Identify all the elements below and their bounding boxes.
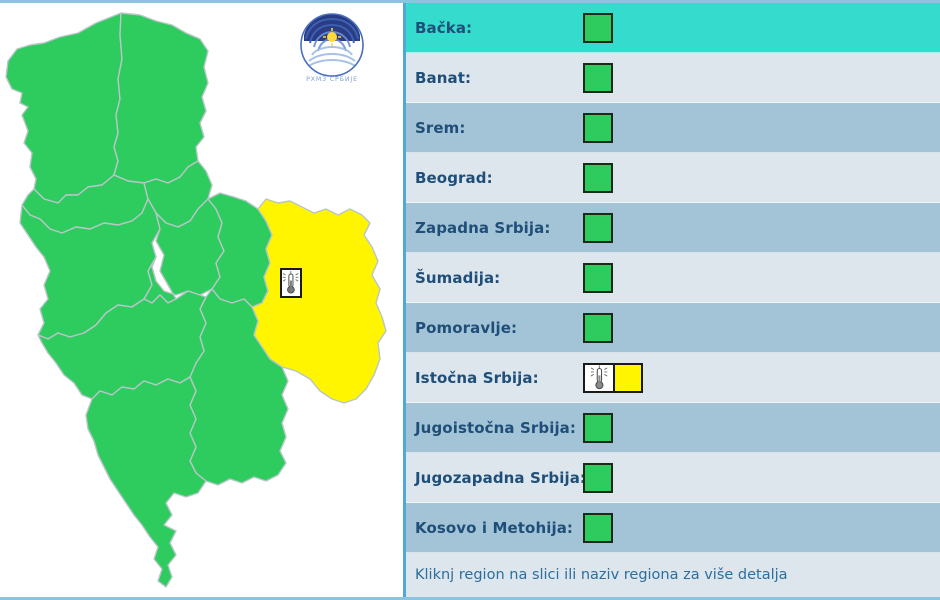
warning-level-swatch-green — [583, 213, 613, 243]
region-row[interactable]: Pomoravlje: — [406, 303, 940, 353]
warning-badge-group — [583, 463, 613, 493]
warning-badge-group — [583, 163, 613, 193]
warning-level-swatch-green — [583, 113, 613, 143]
warning-level-swatch-green — [583, 163, 613, 193]
region-label[interactable]: Srem: — [415, 119, 583, 137]
map-region-banat[interactable] — [114, 13, 208, 183]
map-region-kosovo-i-metohija[interactable] — [86, 377, 206, 587]
map-panel[interactable]: РХМЗ СРБИЈЕ — [0, 3, 406, 597]
warning-badge-group — [583, 13, 613, 43]
region-row[interactable]: Bačka: — [406, 3, 940, 53]
logo-caption: РХМЗ СРБИЈЕ — [306, 76, 358, 83]
warning-level-swatch-green — [583, 413, 613, 443]
warning-badge-group — [583, 263, 613, 293]
region-label[interactable]: Šumadija: — [415, 269, 583, 287]
warning-level-swatch-green — [583, 13, 613, 43]
warning-badge-group — [583, 213, 613, 243]
region-list-panel: Bačka:Banat:Srem:Beograd:Zapadna Srbija:… — [406, 3, 940, 597]
region-label[interactable]: Kosovo i Metohija: — [415, 519, 583, 537]
region-row[interactable]: Zapadna Srbija: — [406, 203, 940, 253]
region-row[interactable]: Srem: — [406, 103, 940, 153]
warning-level-swatch-green — [583, 63, 613, 93]
thermometer-heat-icon — [583, 363, 613, 393]
warning-level-swatch-green — [583, 263, 613, 293]
serbia-region-map[interactable] — [0, 3, 403, 597]
region-row[interactable]: Jugozapadna Srbija: — [406, 453, 940, 503]
region-row[interactable]: Kosovo i Metohija: — [406, 503, 940, 553]
warning-badge-group — [583, 363, 643, 393]
meteoalarm-page: РХМЗ СРБИЈЕ Bačka:Banat:Srem: — [0, 0, 940, 600]
region-row[interactable]: Šumadija: — [406, 253, 940, 303]
warning-level-swatch-green — [583, 463, 613, 493]
map-thermometer-heat-icon[interactable] — [280, 268, 302, 298]
warning-badge-group — [583, 113, 613, 143]
region-row[interactable]: Jugoistočna Srbija: — [406, 403, 940, 453]
map-region-backa[interactable] — [6, 13, 122, 203]
region-label[interactable]: Istočna Srbija: — [415, 369, 583, 387]
region-row[interactable]: Istočna Srbija: — [406, 353, 940, 403]
rhmz-srbije-logo: РХМЗ СРБИЈЕ — [296, 9, 368, 91]
warning-level-swatch-green — [583, 513, 613, 543]
region-row[interactable]: Banat: — [406, 53, 940, 103]
region-label[interactable]: Zapadna Srbija: — [415, 219, 583, 237]
region-label[interactable]: Banat: — [415, 69, 583, 87]
region-row[interactable]: Beograd: — [406, 153, 940, 203]
region-label[interactable]: Bačka: — [415, 19, 583, 37]
warning-level-swatch-green — [583, 313, 613, 343]
warning-level-swatch-yellow — [613, 363, 643, 393]
warning-badge-group — [583, 413, 613, 443]
region-label[interactable]: Jugoistočna Srbija: — [415, 419, 583, 437]
warning-badge-group — [583, 513, 613, 543]
region-label[interactable]: Beograd: — [415, 169, 583, 187]
warning-badge-group — [583, 63, 613, 93]
warning-badge-group — [583, 313, 613, 343]
region-label[interactable]: Jugozapadna Srbija: — [415, 469, 583, 487]
region-label[interactable]: Pomoravlje: — [415, 319, 583, 337]
footer-hint: Kliknj region na slici ili naziv regiona… — [406, 553, 940, 597]
